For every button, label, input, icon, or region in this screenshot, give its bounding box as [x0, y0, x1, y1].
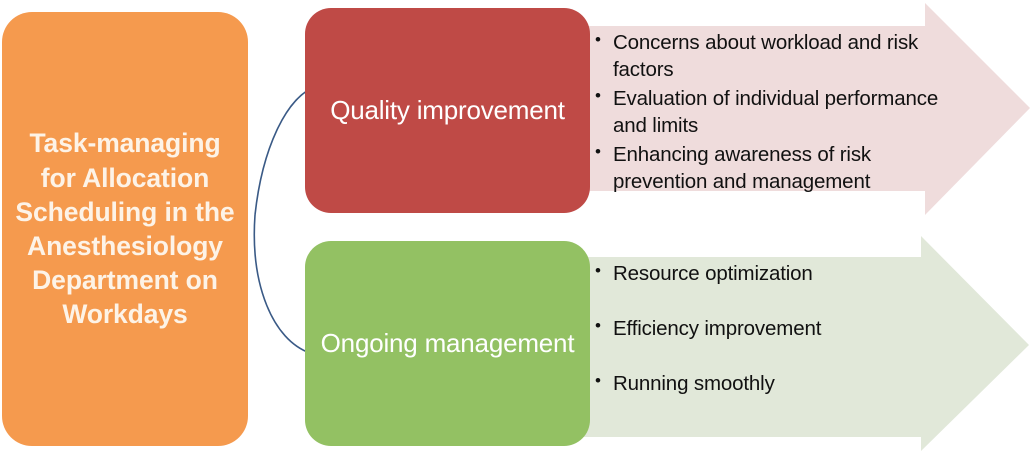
list-item: Resource optimization	[594, 260, 954, 287]
list-item: Evaluation of individual performance and…	[594, 85, 954, 139]
list-item: Efficiency improvement	[594, 315, 954, 342]
list-item: Concerns about workload and risk factors	[594, 29, 954, 83]
branch-card-quality[interactable]: Quality improvement	[305, 8, 590, 213]
bullet-list-ongoing: Resource optimization Efficiency improve…	[594, 260, 954, 425]
branch-label-quality: Quality improvement	[330, 95, 565, 126]
branch-label-ongoing: Ongoing management	[321, 328, 575, 359]
root-node-label: Task-managing for Allocation Scheduling …	[10, 126, 240, 331]
list-item: Running smoothly	[594, 370, 954, 397]
root-node-card[interactable]: Task-managing for Allocation Scheduling …	[2, 12, 248, 446]
bullet-list-quality: Concerns about workload and risk factors…	[594, 29, 954, 197]
diagram-canvas: Task-managing for Allocation Scheduling …	[0, 0, 1035, 456]
list-item: Enhancing awareness of risk prevention a…	[594, 141, 954, 195]
branch-card-ongoing[interactable]: Ongoing management	[305, 241, 590, 446]
